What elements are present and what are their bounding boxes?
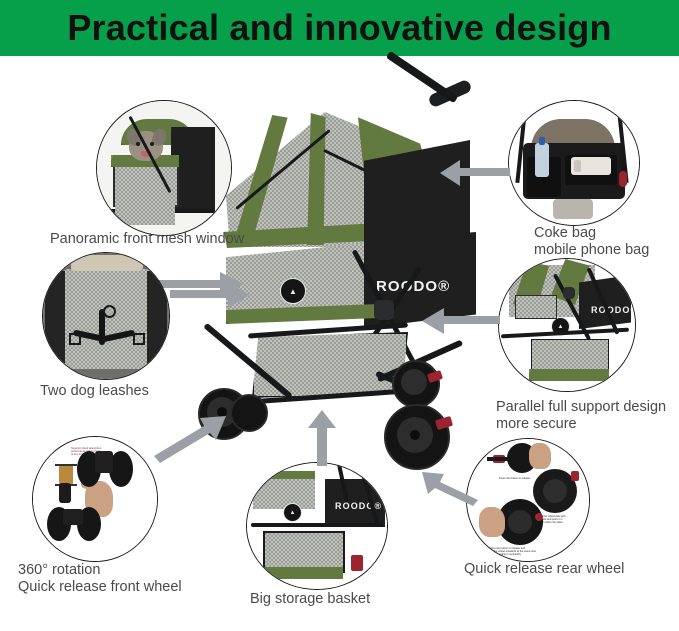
caption-line: Two dog leashes bbox=[40, 383, 149, 400]
callout-panoramic-window bbox=[96, 100, 232, 236]
caption-parallel-support: Parallel full support design more secure bbox=[496, 399, 666, 433]
arrow-rear-wheel bbox=[422, 466, 480, 506]
header-banner: Practical and innovative design bbox=[0, 0, 679, 56]
caption-storage-basket: Big storage basket bbox=[250, 591, 370, 608]
frame-joint bbox=[374, 300, 394, 320]
caption-line: Quick release rear wheel bbox=[464, 561, 624, 578]
front-wheel-secondary bbox=[230, 394, 268, 432]
brand-logo-support: ROODO® bbox=[591, 305, 635, 315]
caption-line: 360° rotation bbox=[18, 562, 182, 579]
caption-line: Parallel full support design bbox=[496, 399, 666, 416]
callout-storage-basket: ROODO® ▲ bbox=[246, 462, 388, 590]
arrow-parallel-support bbox=[420, 306, 502, 336]
caption-line: Panoramic front mesh window bbox=[50, 231, 244, 248]
stroller-handle-post bbox=[386, 51, 458, 103]
basket-badge-medallion: ▲ bbox=[283, 503, 302, 522]
caption-line: mobile phone bag bbox=[534, 242, 649, 259]
caption-line: Quick release front wheel bbox=[18, 579, 182, 596]
callout-parallel-support: ROODO® ▲ bbox=[498, 258, 636, 392]
arrow-storage-basket bbox=[306, 408, 338, 468]
arrow-front-wheel bbox=[150, 412, 228, 460]
product-badge-medallion: ▲ bbox=[280, 278, 306, 304]
arrow-coke-bag bbox=[438, 158, 512, 188]
caption-line: Big storage basket bbox=[250, 591, 370, 608]
caption-coke-bag: Coke bag mobile phone bag bbox=[534, 225, 649, 259]
callout-two-dog-leashes bbox=[42, 252, 170, 380]
callout-front-wheel: Superior shock absorption performance wi… bbox=[32, 436, 158, 562]
caption-front-wheel: 360° rotation Quick release front wheel bbox=[18, 562, 182, 596]
callout-rear-wheel: Press the button to release Align the wh… bbox=[466, 438, 590, 562]
caption-two-dog-leashes: Two dog leashes bbox=[40, 383, 149, 400]
arrow-two-dog-leashes bbox=[168, 280, 252, 310]
rear-wheel-note-mid: Align the wheel axle with the hole and p… bbox=[537, 515, 581, 525]
rear-wheel-upper-inner bbox=[401, 369, 427, 395]
page-title: Practical and innovative design bbox=[67, 10, 611, 46]
caption-line: Coke bag bbox=[534, 225, 649, 242]
infographic-root: Practical and innovative design ROODO® ▲ bbox=[0, 0, 679, 631]
callout-coke-bag bbox=[508, 100, 640, 226]
caption-line: more secure bbox=[496, 416, 666, 433]
caption-rear-wheel: Quick release rear wheel bbox=[464, 561, 624, 578]
caption-panoramic-window: Panoramic front mesh window bbox=[50, 231, 244, 248]
rear-wheel-note-bottom: Press the button to release and pull the… bbox=[489, 547, 549, 557]
rear-wheel-lower-hub bbox=[410, 430, 420, 440]
